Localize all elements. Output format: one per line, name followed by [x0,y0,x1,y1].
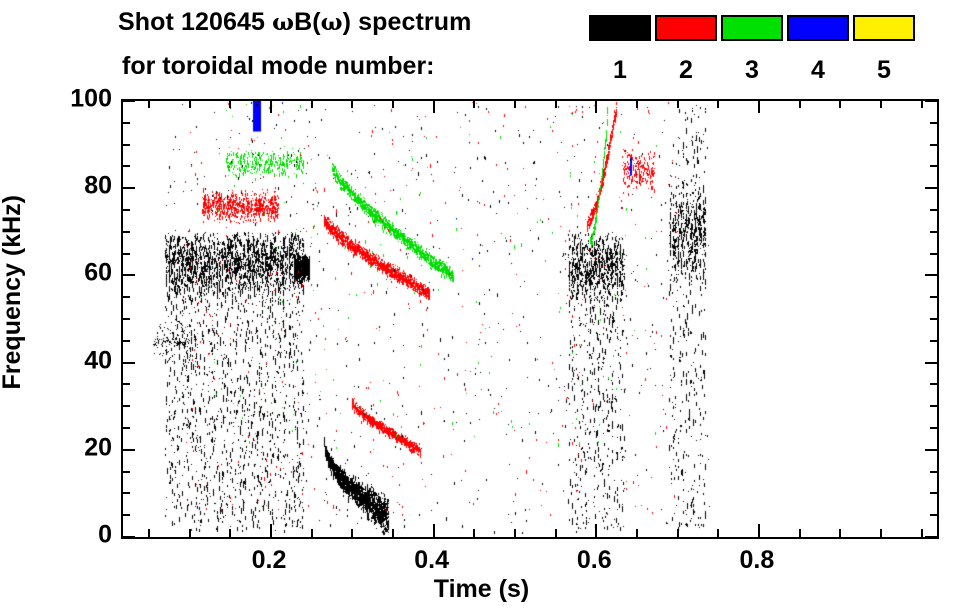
y-tick-right-25 [930,427,938,429]
x-tick-label-0.8: 0.8 [740,546,775,575]
y-tick-right-30 [930,405,938,407]
y-tick-65 [122,253,130,255]
x-tick-bottom-0.8 [758,100,760,113]
y-tick-right-40 [925,362,938,364]
y-tick-label-40: 40 [84,346,112,375]
x-tick-up-0.3 [351,529,353,537]
x-tick-bottom-0.75 [717,100,719,108]
x-tick-up-0.45 [473,529,475,537]
x-tick-up-0.7 [677,529,679,537]
y-tick-right-50 [930,318,938,320]
x-tick-bottom-0.25 [311,100,313,108]
x-tick-label-0.6: 0.6 [577,546,612,575]
legend-label-mode-4: 4 [787,56,849,85]
x-tick-up-0.95 [880,529,882,537]
y-tick-45 [122,340,130,342]
legend-label-mode-3: 3 [721,56,783,85]
x-tick-up-0.15 [229,529,231,537]
y-tick-55 [122,296,130,298]
y-tick-10 [122,492,130,494]
y-tick-85 [122,165,130,167]
x-tick-up-0.2 [270,524,272,537]
y-tick-15 [122,471,130,473]
x-tick-bottom-0.55 [555,100,557,108]
y-tick-70 [122,231,130,233]
y-tick-100 [122,100,135,102]
x-axis-title: Time (s) [0,575,963,604]
y-tick-95 [122,122,130,124]
legend-swatch-mode-4 [787,15,849,41]
x-tick-up-0.85 [799,529,801,537]
x-tick-bottom-0.85 [799,100,801,108]
x-tick-up-0.55 [555,529,557,537]
y-tick-right-5 [930,514,938,516]
y-tick-right-20 [925,449,938,451]
y-tick-right-15 [930,471,938,473]
x-tick-bottom-0.7 [677,100,679,108]
spectrogram-canvas [123,101,937,537]
y-tick-right-45 [930,340,938,342]
legend-label-mode-1: 1 [589,56,651,85]
x-tick-bottom-0.15 [229,100,231,108]
y-tick-right-70 [930,231,938,233]
y-tick-right-95 [930,122,938,124]
y-tick-label-0: 0 [98,521,112,550]
y-tick-right-90 [930,144,938,146]
x-tick-bottom-1 [921,100,923,108]
y-axis-title: Frequency (kHz) [0,195,27,389]
legend-label-mode-2: 2 [655,56,717,85]
x-tick-up-0.8 [758,524,760,537]
x-tick-up-1 [921,529,923,537]
x-tick-bottom-0.35 [392,100,394,108]
x-tick-bottom-0.6 [595,100,597,113]
y-tick-75 [122,209,130,211]
y-tick-right-10 [930,492,938,494]
x-tick-label-0.2: 0.2 [252,546,287,575]
legend-swatch-mode-2 [655,15,717,41]
y-tick-80 [122,187,135,189]
legend-swatch-mode-1 [589,15,651,41]
x-tick-bottom-0.05 [148,100,150,108]
x-tick-up-0.35 [392,529,394,537]
y-tick-0 [122,536,135,538]
y-tick-25 [122,427,130,429]
legend: 12345 [0,0,963,96]
y-tick-right-35 [930,383,938,385]
y-tick-40 [122,362,135,364]
y-tick-30 [122,405,130,407]
y-tick-right-80 [925,187,938,189]
x-tick-bottom-0.2 [270,100,272,113]
x-tick-label-0.4: 0.4 [414,546,449,575]
y-tick-label-20: 20 [84,433,112,462]
legend-swatch-mode-5 [853,15,915,41]
x-tick-bottom-0.4 [433,100,435,113]
y-tick-right-65 [930,253,938,255]
x-tick-up-0.1 [189,529,191,537]
legend-label-mode-5: 5 [853,56,915,85]
x-tick-up-0.6 [595,524,597,537]
x-tick-up-0.65 [636,529,638,537]
x-tick-bottom-0.65 [636,100,638,108]
x-tick-bottom-0.1 [189,100,191,108]
x-tick-bottom-0.5 [514,100,516,108]
y-tick-right-0 [925,536,938,538]
x-tick-bottom-0.45 [473,100,475,108]
legend-swatch-mode-3 [721,15,783,41]
x-tick-up-0.75 [717,529,719,537]
y-tick-label-60: 60 [84,259,112,288]
y-tick-right-85 [930,165,938,167]
y-tick-60 [122,274,135,276]
x-tick-up-0.4 [433,524,435,537]
y-tick-right-75 [930,209,938,211]
y-tick-90 [122,144,130,146]
x-tick-bottom-0.3 [351,100,353,108]
x-tick-up-0.25 [311,529,313,537]
y-tick-5 [122,514,130,516]
y-tick-20 [122,449,135,451]
y-tick-50 [122,318,130,320]
y-tick-right-55 [930,296,938,298]
x-tick-up-0.05 [148,529,150,537]
x-tick-bottom-0.95 [880,100,882,108]
y-tick-right-100 [925,100,938,102]
plot-area [121,99,939,539]
spectrogram-figure: Shot 120645 ωB(ω) spectrum for toroidal … [0,0,963,615]
x-tick-bottom-0.9 [839,100,841,108]
y-tick-label-80: 80 [84,172,112,201]
x-tick-up-0.9 [839,529,841,537]
y-tick-right-60 [925,274,938,276]
y-tick-label-100: 100 [70,85,112,114]
y-tick-35 [122,383,130,385]
x-tick-up-0.5 [514,529,516,537]
